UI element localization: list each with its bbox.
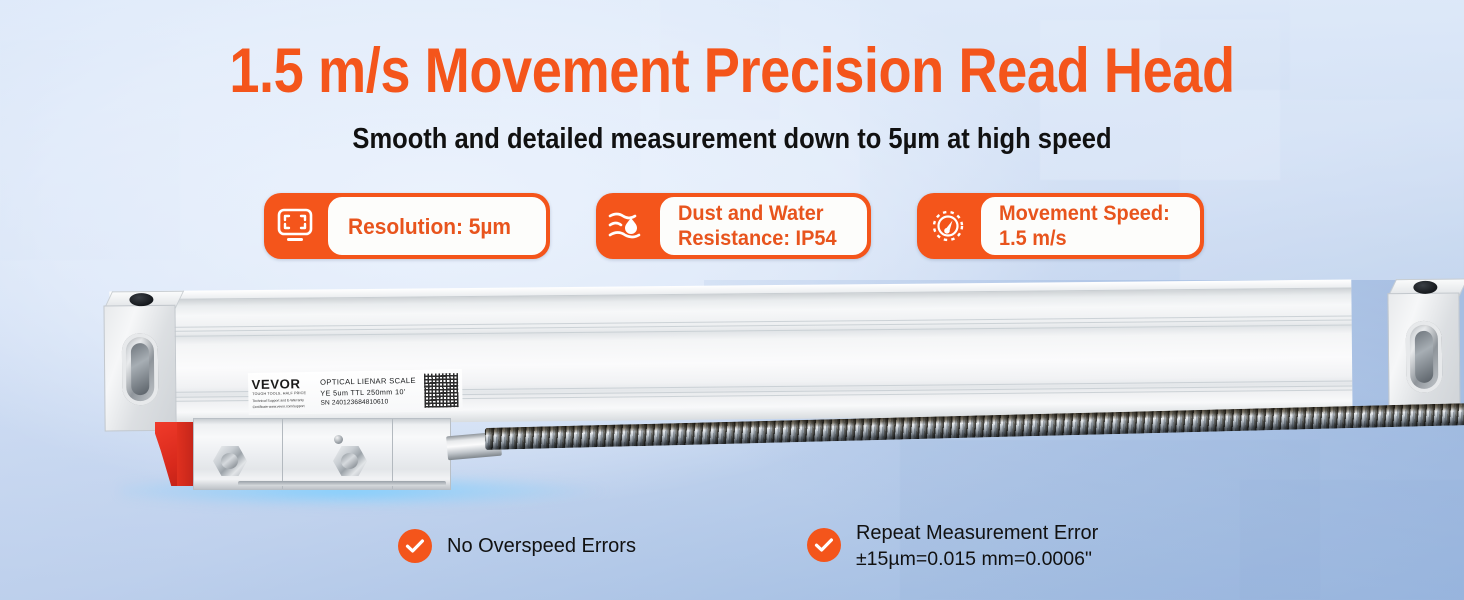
promo-banner: 1.5 m/s Movement Precision Read Head Smo… <box>0 0 1464 600</box>
mounting-slot-left <box>122 333 159 405</box>
feature-badge-ip-rating-line-2: Resistance: IP54 <box>678 226 837 251</box>
spec-block: OPTICAL LIENAR SCALE YE 5um TTL 250mm 10… <box>320 375 419 409</box>
feature-badge-speed-body: Movement Speed: 1.5 m/s <box>979 195 1203 257</box>
support-line-1: Technical Support and E-Warranty <box>252 398 314 404</box>
brand-block: VEVOR TOUGH TOOLS, HALF PRICE Technical … <box>252 377 315 409</box>
feature-check-list: No Overspeed Errors Repeat Measurement E… <box>398 520 1098 572</box>
brand-name: VEVOR <box>251 377 314 392</box>
feature-badge-resolution-body: Resolution: 5µm <box>326 195 548 257</box>
label-serial: SN 240123684810610 <box>320 397 418 409</box>
feature-badge-speed-line-1: Movement Speed: <box>999 201 1170 226</box>
water-drop-waves-icon <box>596 193 658 259</box>
feature-badge-ip-rating-line-1: Dust and Water <box>678 201 837 226</box>
check-item-no-overspeed: No Overspeed Errors <box>398 520 636 572</box>
speedometer-gauge-icon <box>917 193 979 259</box>
page-subtitle: Smooth and detailed measurement down to … <box>88 122 1376 156</box>
product-image-linear-scale: VEVOR TOUGH TOOLS, HALF PRICE Technical … <box>0 270 1464 540</box>
feature-badge-ip-rating: Dust and Water Resistance: IP54 <box>596 193 871 259</box>
read-head-assembly <box>155 418 505 494</box>
feature-badge-ip-rating-body: Dust and Water Resistance: IP54 <box>658 195 869 257</box>
page-title: 1.5 m/s Movement Precision Read Head <box>102 36 1361 106</box>
read-head-screw-center <box>334 435 343 444</box>
check-item-repeat-error-text: Repeat Measurement Error ±15µm=0.015 mm=… <box>856 520 1098 572</box>
mounting-slot-right <box>1406 321 1443 393</box>
qr-code-icon <box>424 373 459 408</box>
feature-badge-speed-line-2: 1.5 m/s <box>999 226 1170 251</box>
support-line-2: Certificate www.vevor.com/support <box>253 404 315 410</box>
feature-badge-speed: Movement Speed: 1.5 m/s <box>917 193 1205 259</box>
check-line-1: No Overspeed Errors <box>447 533 636 559</box>
feature-badge-resolution-line-1: Resolution: 5µm <box>348 214 511 239</box>
feature-badge-list: Resolution: 5µm Dust and Water Resistanc… <box>264 193 1204 259</box>
check-line-2: ±15µm=0.015 mm=0.0006" <box>856 546 1098 572</box>
check-circle-icon <box>398 529 432 563</box>
feature-badge-resolution: Resolution: 5µm <box>264 193 550 259</box>
check-circle-icon <box>807 528 841 562</box>
scale-beam: VEVOR TOUGH TOOLS, HALF PRICE Technical … <box>51 279 1408 430</box>
resolution-screen-icon <box>264 193 326 259</box>
check-item-repeat-error: Repeat Measurement Error ±15µm=0.015 mm=… <box>807 520 1098 572</box>
scale-end-cap-right <box>1387 278 1460 419</box>
scale-end-cap-left <box>103 291 176 432</box>
product-spec-label: VEVOR TOUGH TOOLS, HALF PRICE Technical … <box>248 369 463 415</box>
check-line-1: Repeat Measurement Error <box>856 520 1098 546</box>
check-item-no-overspeed-text: No Overspeed Errors <box>447 533 636 559</box>
